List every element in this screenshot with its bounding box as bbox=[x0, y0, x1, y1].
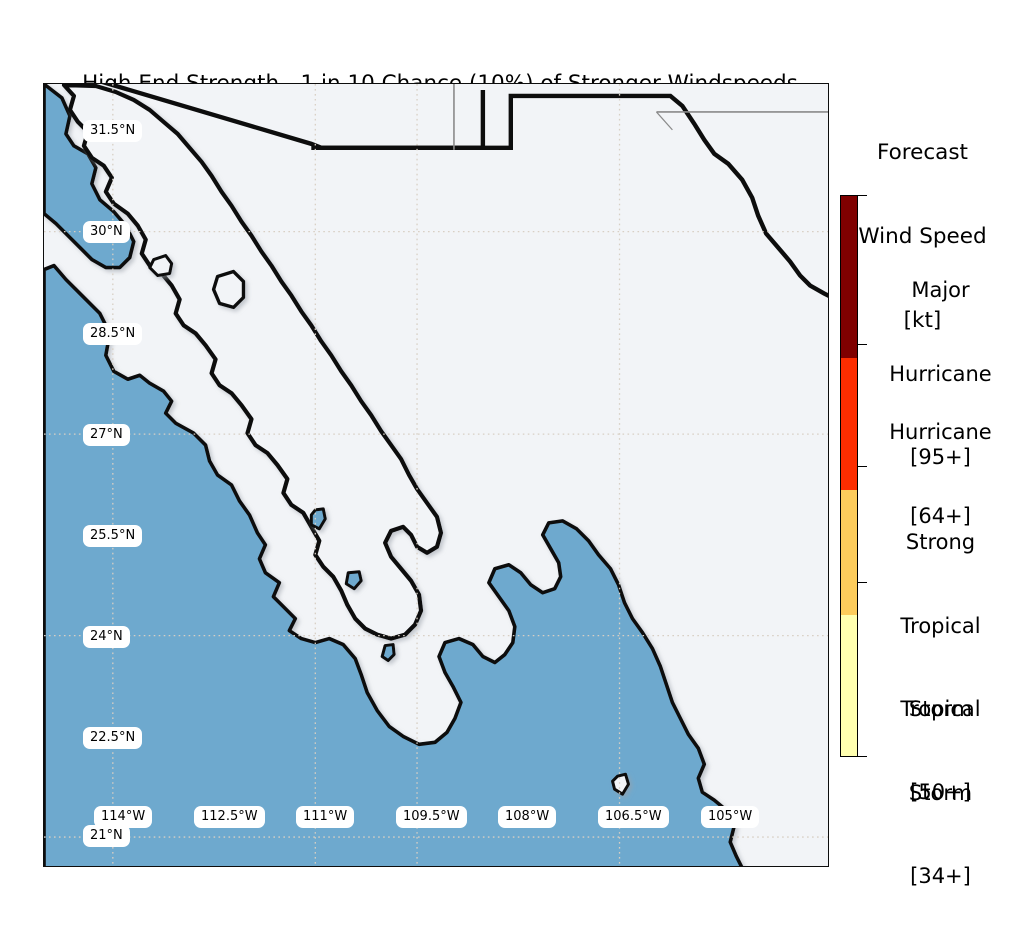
legend-label-tropical-storm-line-1: Tropical bbox=[866, 696, 1015, 724]
lat-label-25-5: 25.5°N bbox=[83, 525, 142, 547]
lon-label-109-5: 109.5°W bbox=[396, 806, 467, 828]
lat-label-24: 24°N bbox=[83, 626, 130, 648]
lon-label-111: 111°W bbox=[296, 806, 354, 828]
lat-label-22-5: 22.5°N bbox=[83, 727, 142, 749]
colorbar-tick-top bbox=[858, 195, 867, 196]
lon-label-112-5: 112.5°W bbox=[194, 806, 265, 828]
legend-panel: Forecast Wind Speed [kt] Major Hurricane… bbox=[836, 83, 1015, 867]
isla-angel-de-la-guarda bbox=[214, 272, 244, 308]
legend-label-tropical-storm-line-2: Storm bbox=[866, 780, 1015, 808]
lat-label-28-5: 28.5°N bbox=[83, 323, 142, 345]
legend-label-strong-tropical-storm-line-2: Tropical bbox=[866, 613, 1015, 641]
lon-label-114: 114°W bbox=[94, 806, 152, 828]
legend-label-strong-tropical-storm-line-1: Strong bbox=[866, 529, 1015, 557]
isla-cerralvo bbox=[382, 645, 394, 661]
lon-label-106-5: 106.5°W bbox=[598, 806, 669, 828]
lat-label-21: 21°N bbox=[83, 825, 130, 847]
legend-label-tropical-storm: Tropical Storm [34+] bbox=[866, 641, 1015, 946]
lat-label-27: 27°N bbox=[83, 424, 130, 446]
map-plot-area[interactable]: 31.5°N 30°N 28.5°N 27°N 25.5°N 24°N 22.5… bbox=[43, 83, 829, 867]
isla-tiburon bbox=[150, 256, 172, 276]
colorbar-segment-major-hurricane[interactable] bbox=[841, 196, 857, 358]
colorbar[interactable] bbox=[840, 195, 858, 757]
lat-label-31-5: 31.5°N bbox=[83, 120, 142, 142]
colorbar-segment-strong-tropical-storm[interactable] bbox=[841, 490, 857, 616]
legend-label-tropical-storm-line-3: [34+] bbox=[866, 863, 1015, 891]
lat-label-30: 30°N bbox=[83, 221, 130, 243]
colorbar-segment-tropical-storm[interactable] bbox=[841, 615, 857, 756]
lon-label-105: 105°W bbox=[701, 806, 759, 828]
legend-label-hurricane-line-1: Hurricane bbox=[866, 419, 1015, 447]
lon-label-108: 108°W bbox=[498, 806, 556, 828]
map-graphic bbox=[44, 84, 828, 866]
legend-title-line-1: Forecast bbox=[836, 139, 1009, 167]
legend-label-major-hurricane-line-1: Major bbox=[866, 277, 1015, 305]
colorbar-segment-hurricane[interactable] bbox=[841, 358, 857, 490]
